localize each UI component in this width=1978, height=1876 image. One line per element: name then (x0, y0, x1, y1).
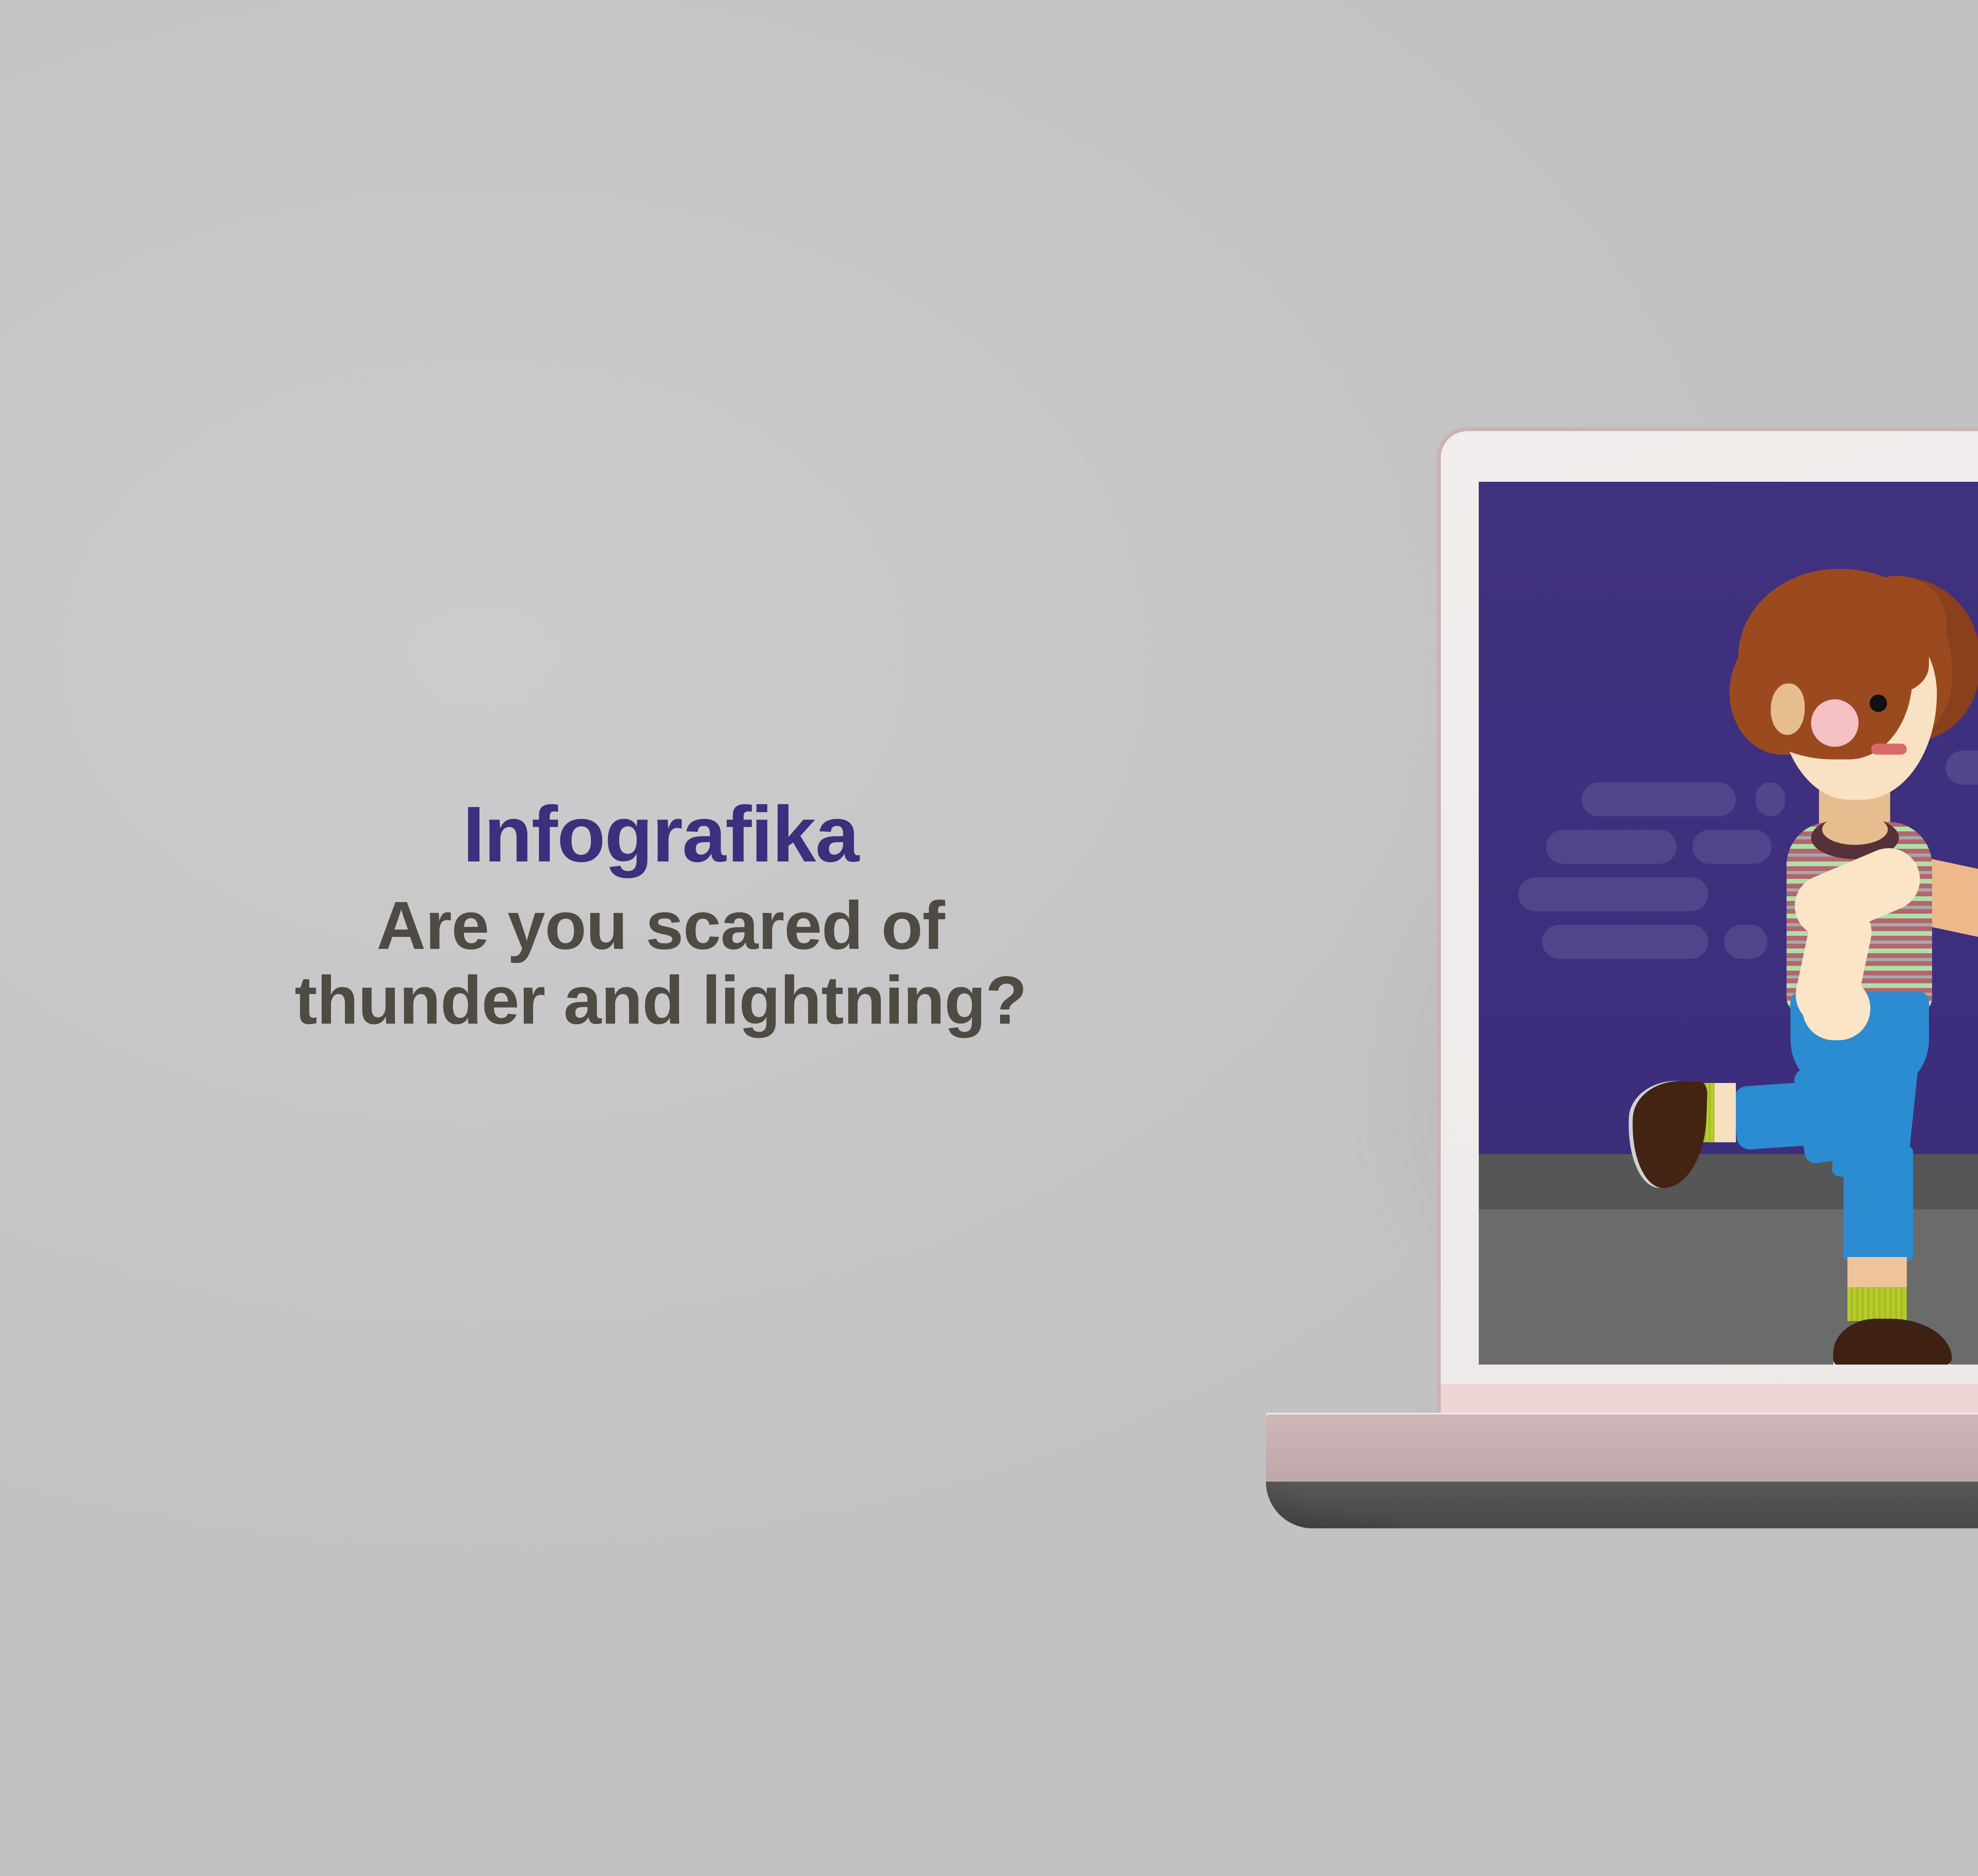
leg-front-shin (1843, 1146, 1913, 1261)
eye (1870, 695, 1887, 712)
collar-opening (1822, 814, 1888, 845)
ear (1771, 683, 1805, 735)
cheek (1811, 699, 1859, 747)
speed-line (1546, 830, 1677, 864)
laptop-base (1266, 1414, 1978, 1482)
speed-line (1518, 877, 1708, 911)
laptop-lid-pink-strip (1441, 1384, 1978, 1415)
running-boy-character (1700, 569, 1978, 1202)
mouth (1871, 744, 1907, 755)
laptop-device (1266, 419, 1978, 1487)
ankle-front (1847, 1257, 1907, 1289)
question-line-1: Are you scared of (0, 888, 1266, 963)
brand-title: Infografika (0, 795, 1266, 874)
laptop-screen[interactable] (1479, 482, 1978, 1365)
sock-front (1847, 1287, 1907, 1321)
speed-line (1542, 925, 1708, 959)
fist (1802, 977, 1870, 1040)
ankle-back (1714, 1083, 1736, 1142)
question-line-2: thunder and lightning? (0, 963, 1266, 1038)
poster-canvas: Infografika Are you scared of thunder an… (0, 0, 1978, 1876)
headline-block: Infografika Are you scared of thunder an… (0, 795, 1266, 1038)
laptop-base-foot (1266, 1482, 1978, 1528)
